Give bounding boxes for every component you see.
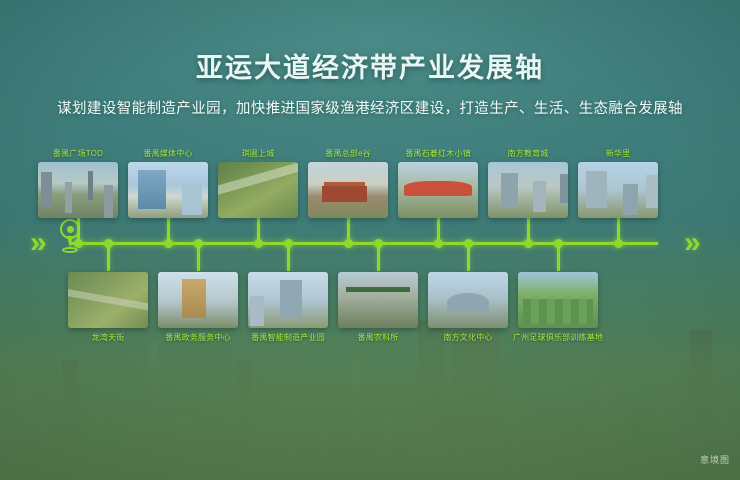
timeline-connector <box>347 218 350 244</box>
project-thumbnail[interactable] <box>308 162 388 218</box>
project-thumbnail[interactable] <box>398 162 478 218</box>
project-thumbnail[interactable] <box>518 272 598 328</box>
project-thumbnail[interactable] <box>38 162 118 218</box>
page-title: 亚运大道经济带产业发展轴 <box>0 46 740 85</box>
thumbnail-image <box>218 162 298 218</box>
timeline-connector <box>437 218 440 244</box>
thumbnail-image <box>68 272 148 328</box>
timeline-connector <box>467 243 470 271</box>
timeline-connector <box>107 243 110 271</box>
project-thumbnail[interactable] <box>128 162 208 218</box>
thumbnail-image <box>128 162 208 218</box>
watermark-note: 意境图 <box>700 453 730 466</box>
timeline-connector <box>617 218 620 244</box>
thumbnail-image <box>338 272 418 328</box>
timeline-connector <box>167 218 170 244</box>
thumbnail-image <box>398 162 478 218</box>
project-thumbnail[interactable] <box>428 272 508 328</box>
project-thumbnail[interactable] <box>338 272 418 328</box>
timeline-connector <box>197 243 200 271</box>
thumbnail-image <box>578 162 658 218</box>
chevron-right-arrow-icon: » <box>684 228 701 258</box>
project-label: 广州足球俱乐部训练基地 <box>498 332 618 343</box>
thumbnail-image <box>428 272 508 328</box>
page-subtitle: 谋划建设智能制造产业园，加快推进国家级渔港经济区建设，打造生产、生活、生态融合发… <box>0 97 740 118</box>
timeline-connector <box>527 218 530 244</box>
project-thumbnail[interactable] <box>578 162 658 218</box>
timeline-axis <box>70 242 658 245</box>
timeline-connector <box>257 218 260 244</box>
chevron-left-arrow-icon: » <box>30 228 47 258</box>
timeline-connector <box>377 243 380 271</box>
infographic-canvas: 亚运大道经济带产业发展轴 谋划建设智能制造产业园，加快推进国家级渔港经济区建设，… <box>0 0 740 480</box>
thumbnail-image <box>488 162 568 218</box>
project-thumbnail[interactable] <box>218 162 298 218</box>
thumbnail-image <box>158 272 238 328</box>
thumbnail-image <box>518 272 598 328</box>
project-label: 新华里 <box>558 148 678 159</box>
timeline-connector <box>287 243 290 271</box>
project-thumbnail[interactable] <box>488 162 568 218</box>
project-thumbnail[interactable] <box>248 272 328 328</box>
timeline-connector <box>77 218 80 244</box>
project-thumbnail[interactable] <box>158 272 238 328</box>
thumbnail-image <box>248 272 328 328</box>
timeline-connector <box>557 243 560 271</box>
thumbnail-image <box>38 162 118 218</box>
project-thumbnail[interactable] <box>68 272 148 328</box>
thumbnail-image <box>308 162 388 218</box>
